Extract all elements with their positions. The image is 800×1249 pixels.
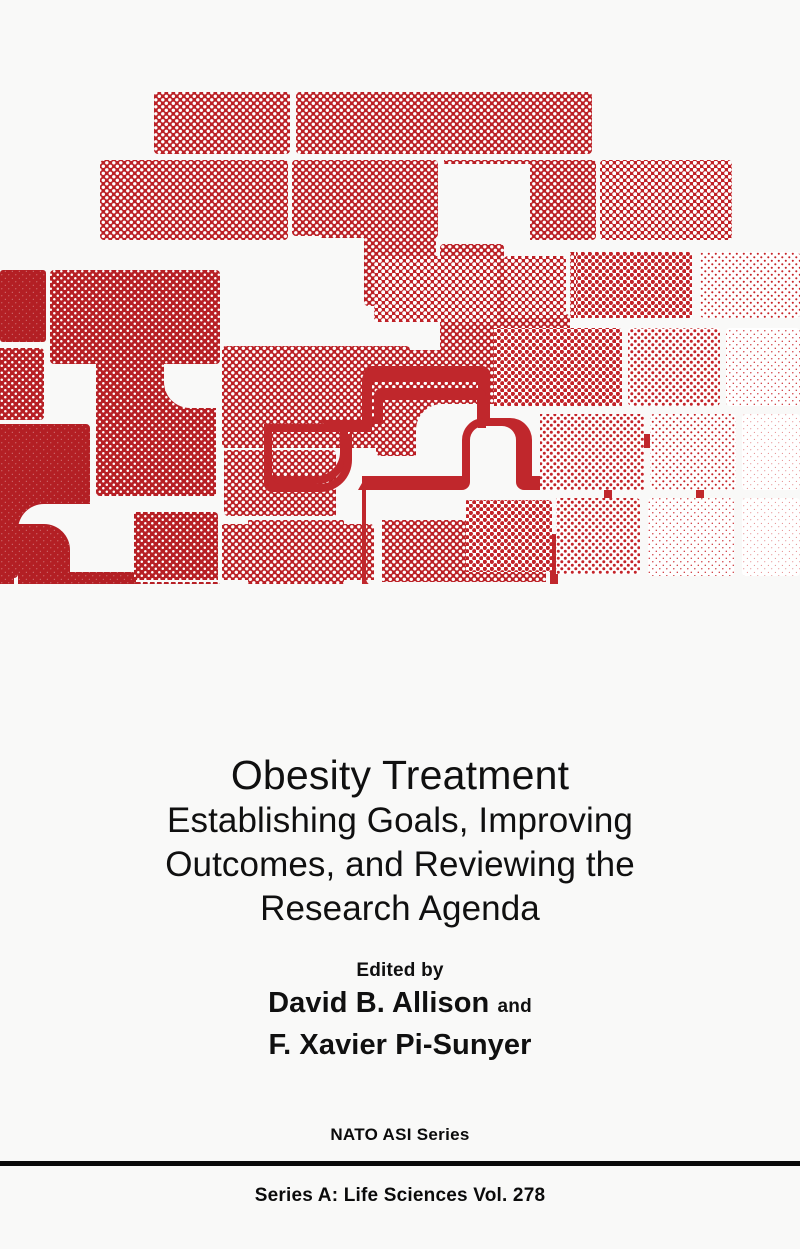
series-block: NATO ASI Series [0,1124,800,1146]
editor-name-1: David B. Allison [268,987,489,1019]
nato-asi-series-logo-artwork [0,84,800,584]
series-name: NATO ASI Series [0,1124,800,1146]
editor-conjunction: and [498,996,532,1017]
subtitle-line-2: Outcomes, and Reviewing the [0,843,800,887]
series-divider-rule [0,1161,800,1166]
title-block: Obesity Treatment Establishing Goals, Im… [0,752,800,931]
editor-name-2: F. Xavier Pi-Sunyer [0,1026,800,1065]
subseries-block: Series A: Life Sciences Vol. 278 [0,1183,800,1209]
book-cover: Obesity Treatment Establishing Goals, Im… [0,0,800,1249]
artwork-blocks [0,92,800,584]
editors-block: Edited by David B. Allison and F. Xavier… [0,958,800,1065]
editor-name-1-row: David B. Allison and [0,984,800,1026]
subtitle-line-1: Establishing Goals, Improving [0,799,800,843]
edited-by-label: Edited by [0,958,800,984]
subtitle-line-3: Research Agenda [0,887,800,931]
subseries-name: Series A: Life Sciences Vol. 278 [0,1183,800,1209]
page-title: Obesity Treatment [0,752,800,799]
